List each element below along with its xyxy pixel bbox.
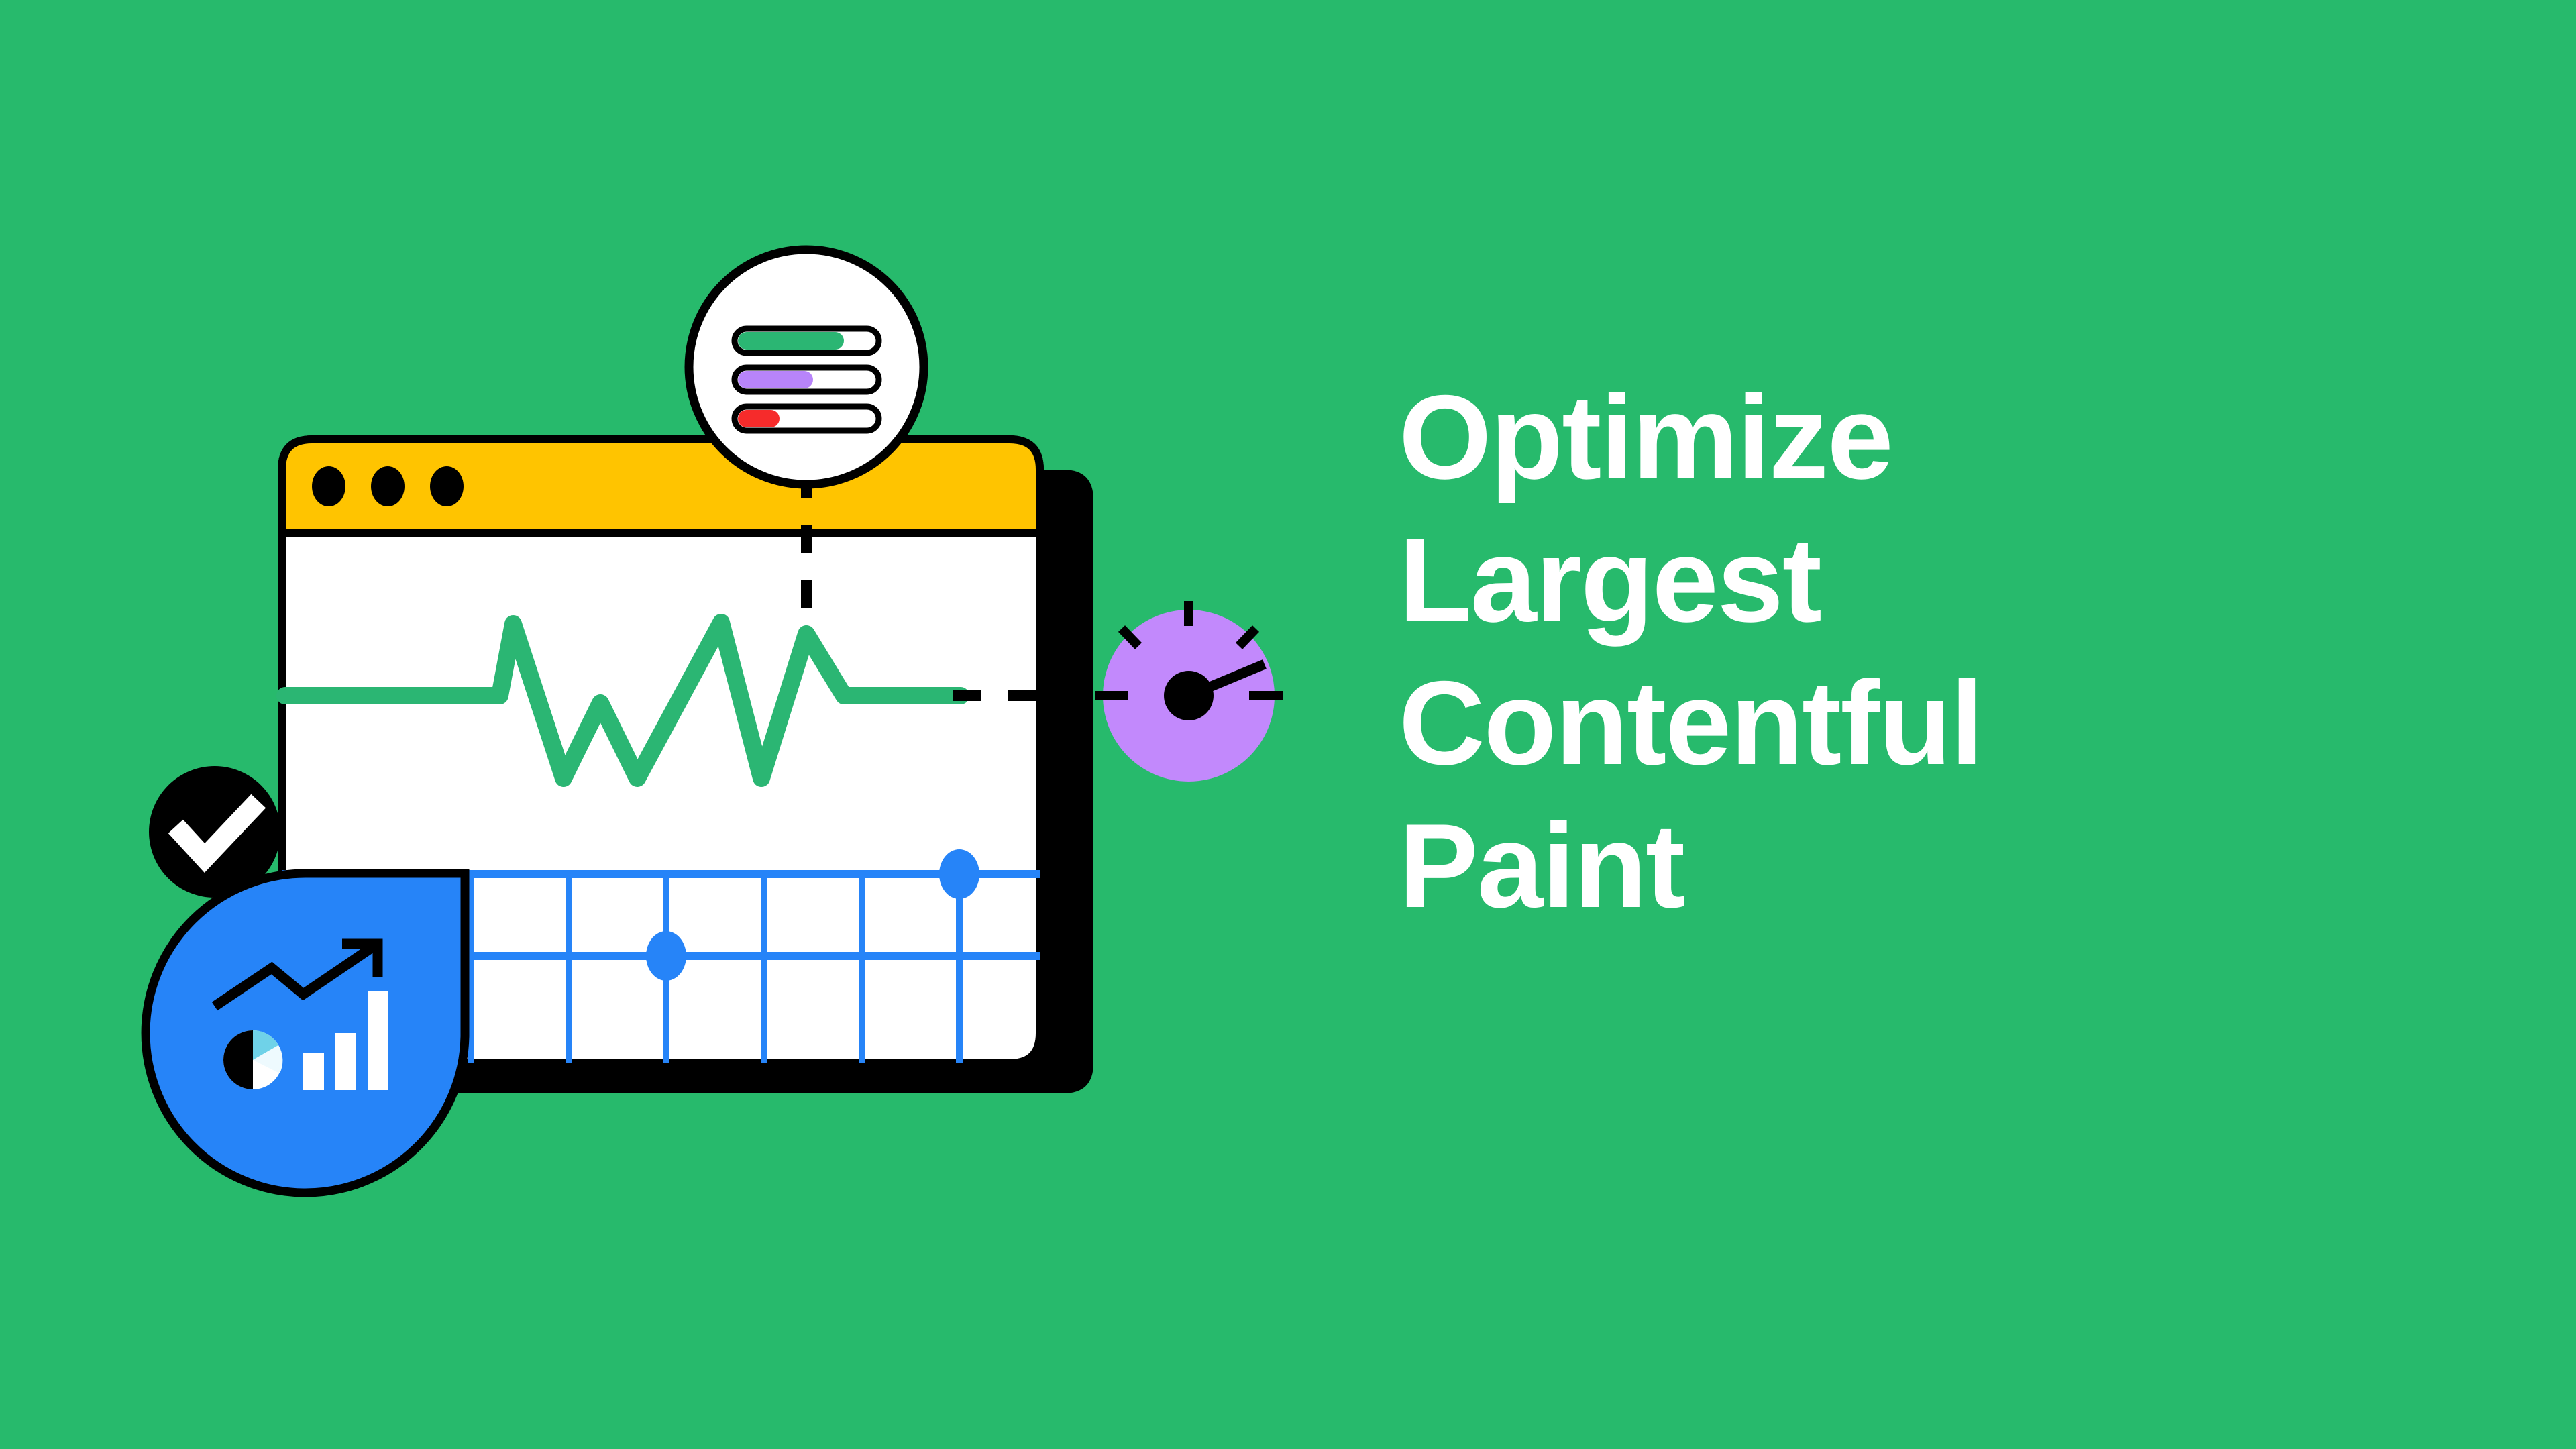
needs-improvement-metric-bar xyxy=(735,368,879,392)
window-traffic-lights[interactable] xyxy=(312,466,464,506)
illustration-page: Optimize Largest Contentful Paint xyxy=(0,0,2576,1449)
pie-chart-icon xyxy=(223,1030,282,1089)
page-title: Optimize Largest Contentful Paint xyxy=(1399,366,2405,937)
window-dot-close-icon[interactable] xyxy=(312,466,345,506)
grid-dot-1[interactable] xyxy=(646,931,686,981)
poor-metric-bar xyxy=(735,407,879,431)
analytics-pin-icon[interactable] xyxy=(146,873,465,1193)
headline-line-1: Optimize xyxy=(1399,366,2405,508)
grid-dot-2[interactable] xyxy=(939,849,979,899)
headline-line-4: Paint xyxy=(1399,794,2405,937)
headline-line-3: Contentful xyxy=(1399,651,2405,794)
window-dot-maximize-icon[interactable] xyxy=(430,466,464,506)
speed-gauge-icon[interactable] xyxy=(1095,601,1283,782)
window-dot-minimize-icon[interactable] xyxy=(371,466,405,506)
metrics-badge[interactable] xyxy=(689,250,924,484)
good-metric-bar xyxy=(735,329,879,353)
headline-line-2: Largest xyxy=(1399,508,2405,651)
